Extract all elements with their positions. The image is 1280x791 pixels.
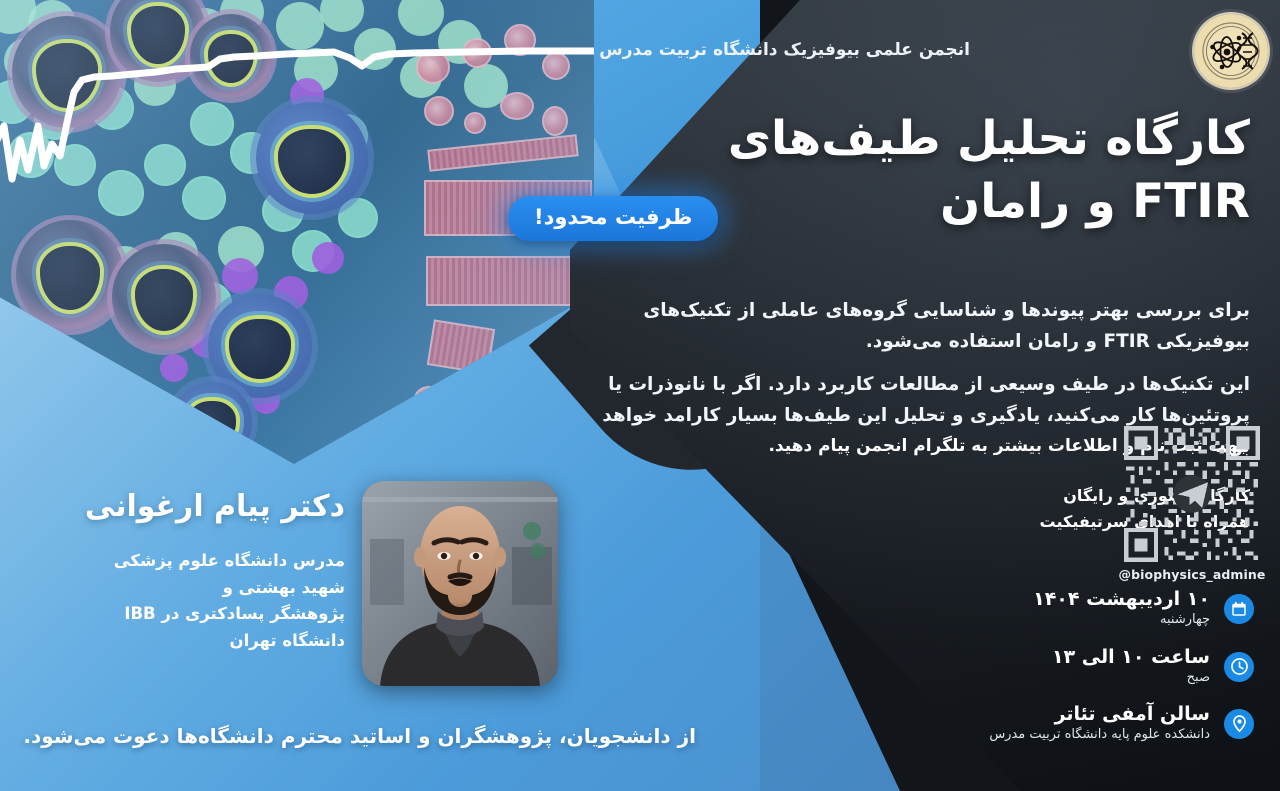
qr-code-telegram-icon[interactable] xyxy=(1118,424,1266,564)
time-sub: صبح xyxy=(1052,670,1210,687)
telegram-handle: @biophysics_admine xyxy=(1118,567,1266,582)
date-sub: چهارشنبه xyxy=(1033,612,1210,629)
affiliation-line-4: دانشگاه تهران xyxy=(60,628,345,655)
title-raman: و رامان xyxy=(940,174,1132,229)
title-line-1: کارگاه تحلیل طیف‌های xyxy=(610,108,1250,171)
title-ftir: FTIR xyxy=(1132,174,1250,229)
speaker-name: دکتر پیام ارغوانی xyxy=(60,489,345,524)
affiliation-ibb: IBB xyxy=(124,604,155,623)
date-main: ۱۰ اردیبهشت ۱۴۰۴ xyxy=(1033,588,1210,610)
association-name: انجمن علمی بیوفیزیک دانشگاه تربیت مدرس xyxy=(599,40,970,60)
clock-icon xyxy=(1224,652,1254,682)
location-main: سالن آمفی تئاتر xyxy=(1055,703,1210,725)
poster-canvas: انجمن علمی بیوفیزیک دانشگاه تربیت مدرس ک… xyxy=(0,0,1280,791)
detail-row-time: ساعت ۱۰ الی ۱۳ صبح xyxy=(1052,646,1254,687)
speaker-portrait-photo xyxy=(362,481,558,686)
affiliation-line-1: مدرس دانشگاه علوم پزشکی xyxy=(60,548,345,575)
calendar-icon xyxy=(1224,594,1254,624)
invitation-footer: از دانشجویان، پژوهشگران و اساتید محترم د… xyxy=(0,724,712,748)
description-paragraph-1: برای بررسی بهتر پیوندها و شناسایی گروه‌ه… xyxy=(590,296,1250,357)
affiliation-line-3-pre: پژوهشگر پسادکتری در xyxy=(156,604,345,623)
atom-dna-logo-icon xyxy=(1194,14,1268,88)
time-main: ساعت ۱۰ الی ۱۳ xyxy=(1052,646,1210,668)
location-pin-icon xyxy=(1224,709,1254,739)
speaker-affiliation: مدرس دانشگاه علوم پزشکی شهید بهشتی و پژو… xyxy=(60,548,345,655)
detail-row-date: ۱۰ اردیبهشت ۱۴۰۴ چهارشنبه xyxy=(1033,588,1254,629)
detail-row-location: سالن آمفی تئاتر دانشکده علوم پایه دانشگا… xyxy=(989,703,1254,744)
location-sub: دانشکده علوم پایه دانشگاه تربیت مدرس xyxy=(989,727,1210,744)
status-badge-limited-capacity: ظرفیت محدود! xyxy=(508,196,718,241)
affiliation-line-3: پژوهشگر پسادکتری در IBB xyxy=(60,601,345,628)
affiliation-line-2: شهید بهشتی و xyxy=(60,575,345,602)
qr-code-block[interactable]: @biophysics_admine xyxy=(1118,424,1266,582)
